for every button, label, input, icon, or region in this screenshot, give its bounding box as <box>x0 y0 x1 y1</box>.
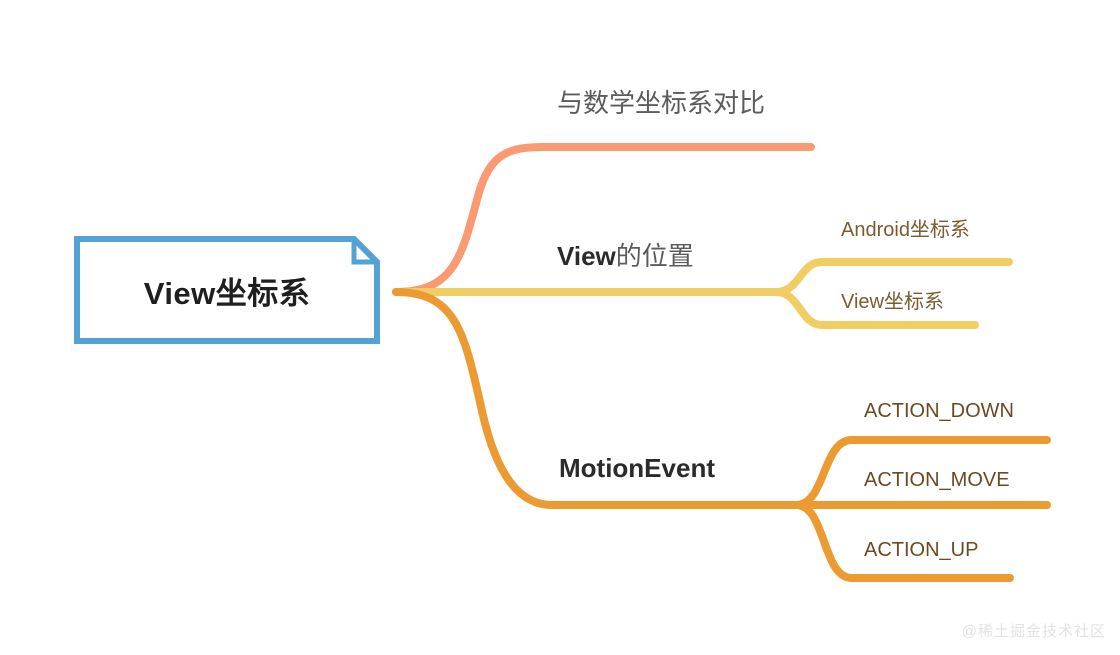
branch-label-motion-event[interactable]: MotionEvent <box>559 455 715 481</box>
branch-label-view-position-thin: 的位置 <box>616 241 694 271</box>
branch-label-action-move[interactable]: ACTION_MOVE <box>864 470 1010 490</box>
mindmap-canvas: View坐标系 与数学坐标系对比 View的位置 MotionEvent And… <box>0 0 1120 655</box>
watermark: @稀土掘金技术社区 <box>962 620 1106 641</box>
connector-android-coord <box>776 262 1009 292</box>
branch-label-motion-event-bold: MotionEvent <box>559 453 715 483</box>
branch-label-compare-math[interactable]: 与数学坐标系对比 <box>557 90 765 116</box>
branch-label-view-coord[interactable]: View坐标系 <box>841 292 944 312</box>
branch-label-view-position[interactable]: View的位置 <box>557 243 694 269</box>
branch-label-action-down[interactable]: ACTION_DOWN <box>864 401 1014 421</box>
branch-label-view-position-bold: View <box>557 241 616 271</box>
root-node-label: View坐标系 <box>74 236 380 344</box>
branch-label-android-coord[interactable]: Android坐标系 <box>841 220 970 240</box>
branch-label-action-up[interactable]: ACTION_UP <box>864 540 978 560</box>
root-node[interactable]: View坐标系 <box>74 236 380 344</box>
